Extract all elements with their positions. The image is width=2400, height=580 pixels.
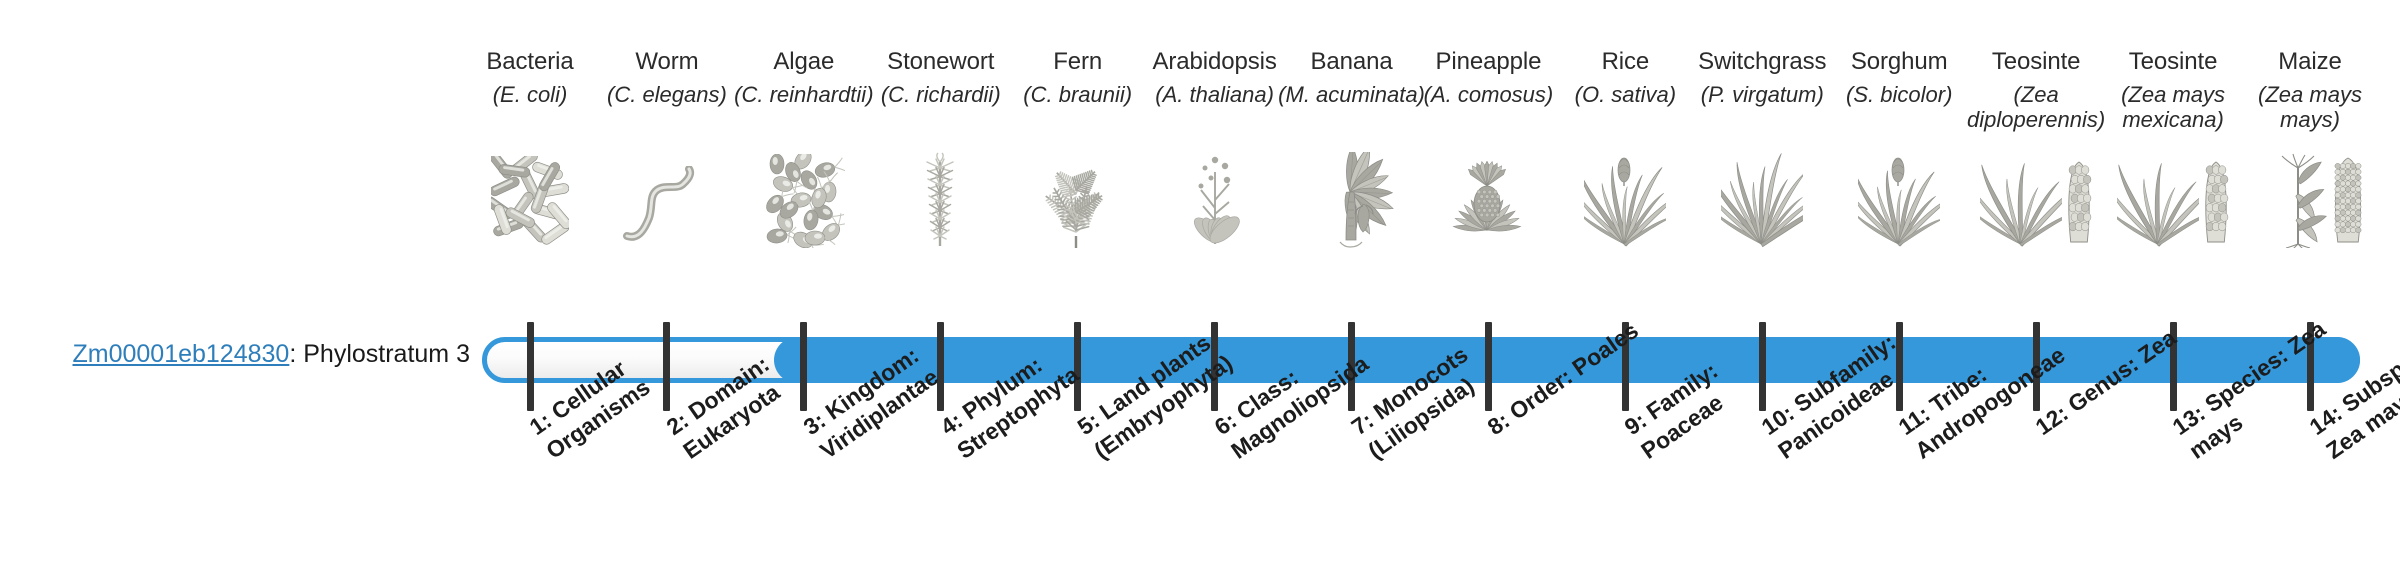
species-scientific-name: (Zea diploperennis): [1961, 83, 2111, 132]
species-column-worm: Worm(C. elegans): [592, 48, 742, 108]
species-column-maize: Maize(Zea mays mays): [2235, 48, 2385, 133]
nematode-worm-icon: [592, 153, 742, 248]
banana-tree-icon: [1277, 153, 1427, 248]
species-common-name: Switchgrass: [1687, 48, 1837, 76]
species-common-name: Pineapple: [1413, 48, 1563, 76]
pineapple-plant-icon: [1413, 153, 1563, 248]
algae-cells-icon: [729, 153, 879, 248]
species-scientific-name: (C. richardii): [866, 83, 1016, 108]
species-column-bacteria: Bacteria(E. coli): [455, 48, 605, 108]
species-scientific-name: (M. acuminata): [1277, 83, 1427, 108]
species-scientific-name: (O. sativa): [1550, 83, 1700, 108]
species-scientific-name: (C. braunii): [1003, 83, 1153, 108]
species-column-banana: Banana(M. acuminata): [1277, 48, 1427, 108]
sorghum-plant-icon: [1824, 153, 1974, 248]
species-scientific-name: (P. virgatum): [1687, 83, 1837, 108]
species-common-name: Fern: [1003, 48, 1153, 76]
species-common-name: Banana: [1277, 48, 1427, 76]
teosinte-plant-ear-icon: [1961, 153, 2111, 248]
gene-id-link[interactable]: Zm00001eb124830: [72, 340, 289, 368]
teosinte-plant-ear-icon: [2098, 153, 2248, 248]
species-common-name: Worm: [592, 48, 742, 76]
stonewort-icon: [866, 153, 1016, 248]
arabidopsis-plant-icon: [1140, 153, 1290, 248]
species-common-name: Rice: [1550, 48, 1700, 76]
species-common-name: Maize: [2235, 48, 2385, 76]
bacteria-rods-icon: [455, 153, 605, 248]
species-column-rice: Rice(O. sativa): [1550, 48, 1700, 108]
species-scientific-name: (A. comosus): [1413, 83, 1563, 108]
species-scientific-name: (S. bicolor): [1824, 83, 1974, 108]
species-scientific-name: (Zea mays mays): [2235, 83, 2385, 132]
gene-phylostratum-label: Zm00001eb124830: Phylostratum 3: [0, 340, 470, 369]
species-column-switchgrass: Switchgrass(P. virgatum): [1687, 48, 1837, 108]
species-column-arabidopsis: Arabidopsis(A. thaliana): [1140, 48, 1290, 108]
species-common-name: Arabidopsis: [1140, 48, 1290, 76]
species-scientific-name: (C. reinhardtii): [729, 83, 879, 108]
gene-label-separator: :: [289, 340, 303, 368]
species-column-teosinte: Teosinte(Zea diploperennis): [1961, 48, 2111, 133]
phylostratum-value: Phylostratum 3: [303, 340, 470, 368]
phylostratum-tick-1: [527, 322, 534, 411]
species-common-name: Sorghum: [1824, 48, 1974, 76]
phylostratum-timeline-figure: Zm00001eb124830: Phylostratum 3 Bacteria…: [0, 0, 2400, 580]
species-scientific-name: (C. elegans): [592, 83, 742, 108]
species-column-sorghum: Sorghum(S. bicolor): [1824, 48, 1974, 108]
fern-frond-icon: [1003, 153, 1153, 248]
species-column-stonewort: Stonewort(C. richardii): [866, 48, 1016, 108]
species-scientific-name: (A. thaliana): [1140, 83, 1290, 108]
species-column-algae: Algae(C. reinhardtii): [729, 48, 879, 108]
species-column-pineapple: Pineapple(A. comosus): [1413, 48, 1563, 108]
species-common-name: Algae: [729, 48, 879, 76]
rice-plant-icon: [1550, 153, 1700, 248]
switchgrass-icon: [1687, 153, 1837, 248]
species-scientific-name: (Zea mays mexicana): [2098, 83, 2248, 132]
species-common-name: Teosinte: [1961, 48, 2111, 76]
species-common-name: Stonewort: [866, 48, 1016, 76]
species-column-fern: Fern(C. braunii): [1003, 48, 1153, 108]
species-common-name: Teosinte: [2098, 48, 2248, 76]
species-scientific-name: (E. coli): [455, 83, 605, 108]
species-common-name: Bacteria: [455, 48, 605, 76]
species-column-teosinte: Teosinte(Zea mays mexicana): [2098, 48, 2248, 133]
maize-plant-cob-icon: [2235, 153, 2385, 248]
